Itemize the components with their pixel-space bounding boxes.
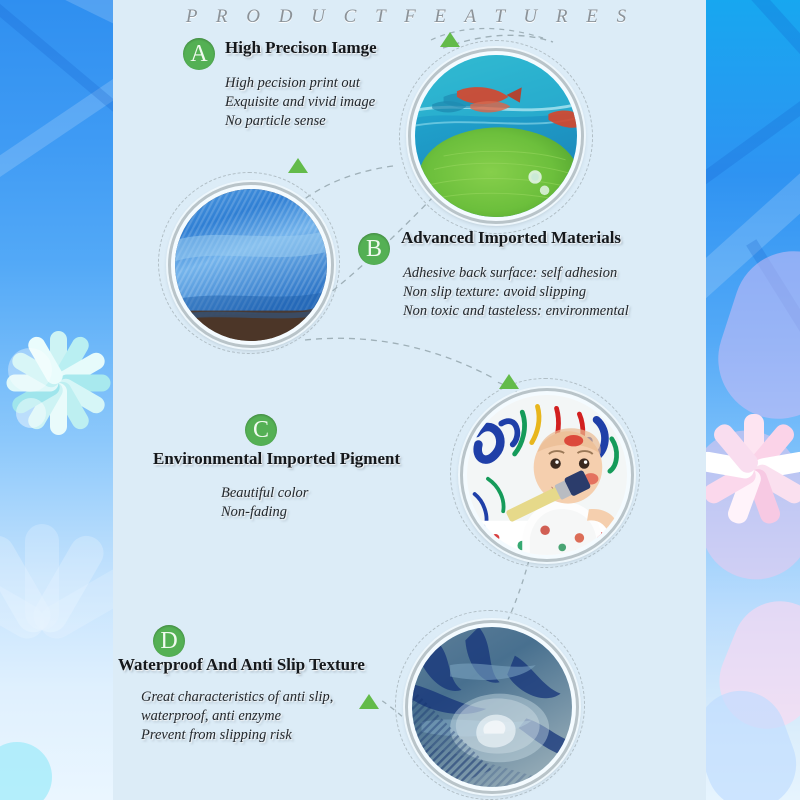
feature-lines-b: Adhesive back surface: self adhesion Non… xyxy=(403,264,629,321)
decor-band xyxy=(711,0,800,89)
decor-band xyxy=(0,57,113,201)
left-decoration-panel xyxy=(0,0,113,800)
flower-ornament xyxy=(8,348,52,392)
feature-heading-d: Waterproof And Anti Slip Texture xyxy=(118,655,365,675)
flower-ornament xyxy=(16,398,46,428)
feature-photo-b-dashring xyxy=(158,172,340,354)
feature-heading-a: High Precison Iamge xyxy=(225,38,377,58)
feature-lines-a: High pecision print out Exquisite and vi… xyxy=(225,74,375,131)
arrow-marker-a xyxy=(440,32,460,47)
feature-photo-c-dashring xyxy=(450,378,640,568)
page-title: P R O D U C T F E A T U R E S xyxy=(113,6,706,28)
feature-badge-b: B xyxy=(358,233,390,265)
arrow-marker-d xyxy=(359,694,379,709)
feature-heading-b: Advanced Imported Materials xyxy=(401,228,621,248)
right-decoration-panel xyxy=(706,0,800,800)
feature-lines-d: Great characteristics of anti slip, wate… xyxy=(141,688,333,745)
feature-badge-d: D xyxy=(153,625,185,657)
feature-lines-c: Beautiful color Non-fading xyxy=(221,484,308,522)
product-features-poster: P R O D U C T F E A T U R E S xyxy=(0,0,800,800)
feature-photo-d-dashring xyxy=(395,610,585,800)
arrow-marker-c xyxy=(499,374,519,389)
decor-band xyxy=(706,62,800,189)
arrow-marker-b xyxy=(288,158,308,173)
feature-badge-a: A xyxy=(183,38,215,70)
feature-heading-c: Environmental Imported Pigment xyxy=(153,449,400,469)
feature-photo-a-dashring xyxy=(399,40,593,234)
content-panel: P R O D U C T F E A T U R E S xyxy=(113,0,706,800)
flower-ornament xyxy=(0,742,52,800)
feature-badge-c: C xyxy=(245,414,277,446)
